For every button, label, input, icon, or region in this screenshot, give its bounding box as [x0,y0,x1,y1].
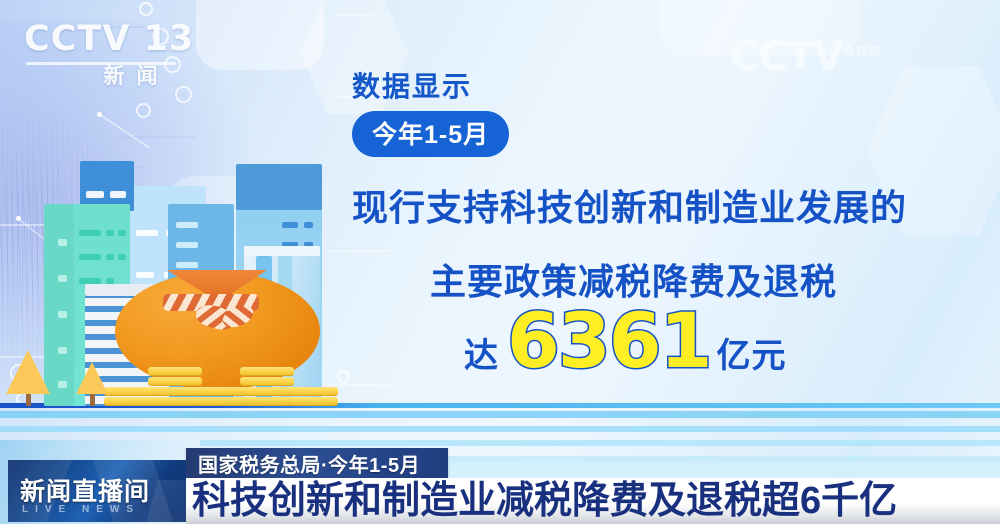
kicker-bar: 国家税务总局·今年1-5月 [186,448,448,478]
building-glass-frame [244,246,320,256]
program-name-cn: 新闻直播间 [20,472,150,508]
broadcast-frame: CCTV 13 新闻 CCTV央视网 数据显示 今年1-5月 现行支持科技创新和… [0,0,1000,524]
building-window [79,230,101,236]
channel-logo-mark: CCTV 13 [24,22,239,57]
kicker-text: 国家税务总局·今年1-5月 [198,449,420,478]
coin [196,387,246,396]
building-window [79,254,101,260]
building-window [118,254,126,260]
amount-prefix: 达 [464,328,499,377]
tree-small [76,362,108,406]
building-window [176,222,198,228]
coin [288,387,338,396]
building-window [110,191,126,198]
building-window [176,262,198,268]
headline-bar: 科技创新和制造业减税降费及退税超6千亿 [186,478,1000,524]
building-window [118,230,126,236]
building-window [176,242,198,248]
tree-trunk [26,394,31,406]
coin-stack [288,386,338,406]
coin [288,397,338,406]
coin [104,397,154,406]
ground-stripe-2 [0,426,1000,432]
channel-logo: CCTV 13 新闻 [24,22,239,84]
tree-trunk [90,394,95,406]
building-window [86,191,104,198]
building-window [58,311,67,318]
city-money-illustration [0,106,360,406]
program-name-en: LIVE NEWS [22,504,140,515]
period-badge: 今年1-5月 [352,111,509,157]
infographic-eyebrow: 数据显示 [352,72,912,103]
coin-stack [104,386,154,406]
coin-stack [240,366,294,406]
lower-third: 国家税务总局·今年1-5月 科技创新和制造业减税降费及退税超6千亿 新闻直播间 … [0,440,1000,524]
building-window [136,272,154,278]
bg-circle-1 [139,2,153,16]
tree-foliage [76,362,108,394]
coin [240,387,294,396]
coin [148,397,202,406]
tree-foliage [6,350,50,394]
coin-stack [196,386,246,406]
amount-unit: 亿元 [717,328,787,377]
infographic-amount-row: 达 6361 亿元 [464,307,912,377]
amount-value: 6361 [507,307,711,375]
ground-stripe-1 [0,411,1000,418]
program-logo: 新闻直播间 LIVE NEWS [8,460,186,522]
channel-logo-underline [26,62,176,65]
coin-stack [148,366,202,406]
infographic-text-block: 数据显示 今年1-5月 现行支持科技创新和制造业发展的 主要政策减税降费及退税 … [352,72,912,377]
building-window [106,254,114,260]
coin [148,377,202,386]
coin [240,367,294,376]
coin [104,387,154,396]
building-window [282,222,298,228]
coin [240,377,294,386]
building-window [304,222,313,228]
infographic-line-1: 现行支持科技创新和制造业发展的 [352,179,912,231]
building-window [136,230,158,236]
headline-text: 科技创新和制造业减税降费及退税超6千亿 [192,482,897,520]
building-window [58,347,67,354]
building-window [58,381,67,388]
building-window [58,239,67,246]
coin [196,397,246,406]
coin [148,387,202,396]
building-window [58,275,67,282]
coin [148,367,202,376]
building-window [106,230,114,236]
building-tall-blue-cap [236,164,322,210]
watermark-sub: 央视网 [843,45,882,59]
tree-large [6,350,50,406]
coin [240,397,294,406]
